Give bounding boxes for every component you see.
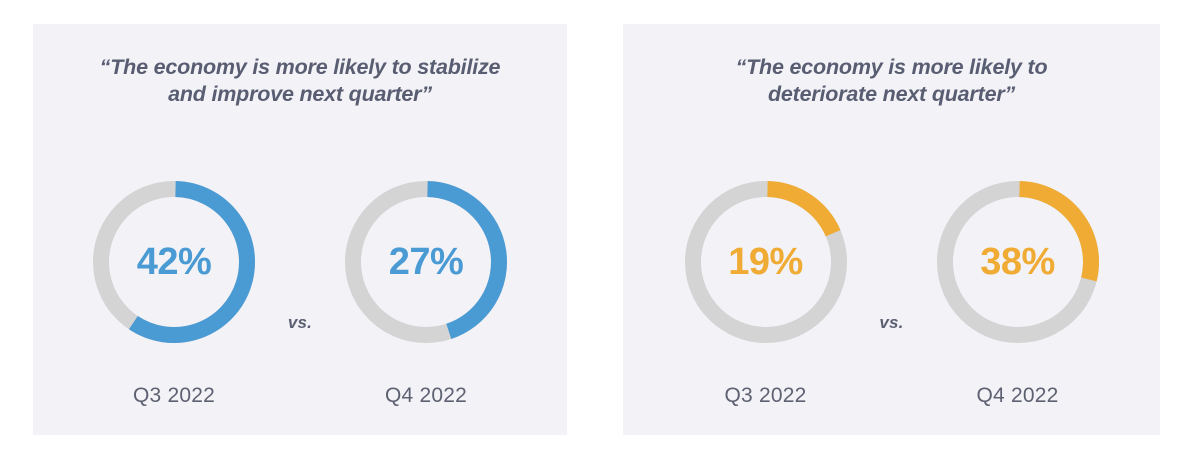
donut-chart: 19%	[676, 172, 856, 352]
gauge-period-label: Q3 2022	[725, 384, 807, 408]
donut-value-label: 19%	[676, 172, 856, 352]
deteriorate-panel: “The economy is more likely to deteriora…	[623, 24, 1160, 435]
gauge-period-label: Q4 2022	[977, 384, 1059, 408]
gauge-period-label: Q3 2022	[133, 384, 215, 408]
panel-title: “The economy is more likely to deteriora…	[623, 54, 1160, 108]
donut-value-label: 42%	[84, 172, 264, 352]
versus-separator: vs.	[864, 313, 920, 333]
infographic-figure: “The economy is more likely to stabilize…	[0, 0, 1200, 461]
donut-value-label: 38%	[928, 172, 1108, 352]
donut-chart: 38%	[928, 172, 1108, 352]
gauge-row: 42% Q3 2022 vs. 27% Q4 2022	[33, 172, 567, 412]
donut-chart: 27%	[336, 172, 516, 352]
gauge-period-label: Q4 2022	[385, 384, 467, 408]
stabilize-panel: “The economy is more likely to stabilize…	[33, 24, 567, 435]
gauge-q4-deteriorate: 38% Q4 2022	[920, 172, 1116, 408]
gauge-row: 19% Q3 2022 vs. 38% Q4 2022	[623, 172, 1160, 412]
donut-value-label: 27%	[336, 172, 516, 352]
panel-title: “The economy is more likely to stabilize…	[33, 54, 567, 108]
gauge-q4-stabilize: 27% Q4 2022	[328, 172, 524, 408]
donut-chart: 42%	[84, 172, 264, 352]
gauge-q3-stabilize: 42% Q3 2022	[76, 172, 272, 408]
gauge-q3-deteriorate: 19% Q3 2022	[668, 172, 864, 408]
versus-separator: vs.	[272, 313, 328, 333]
